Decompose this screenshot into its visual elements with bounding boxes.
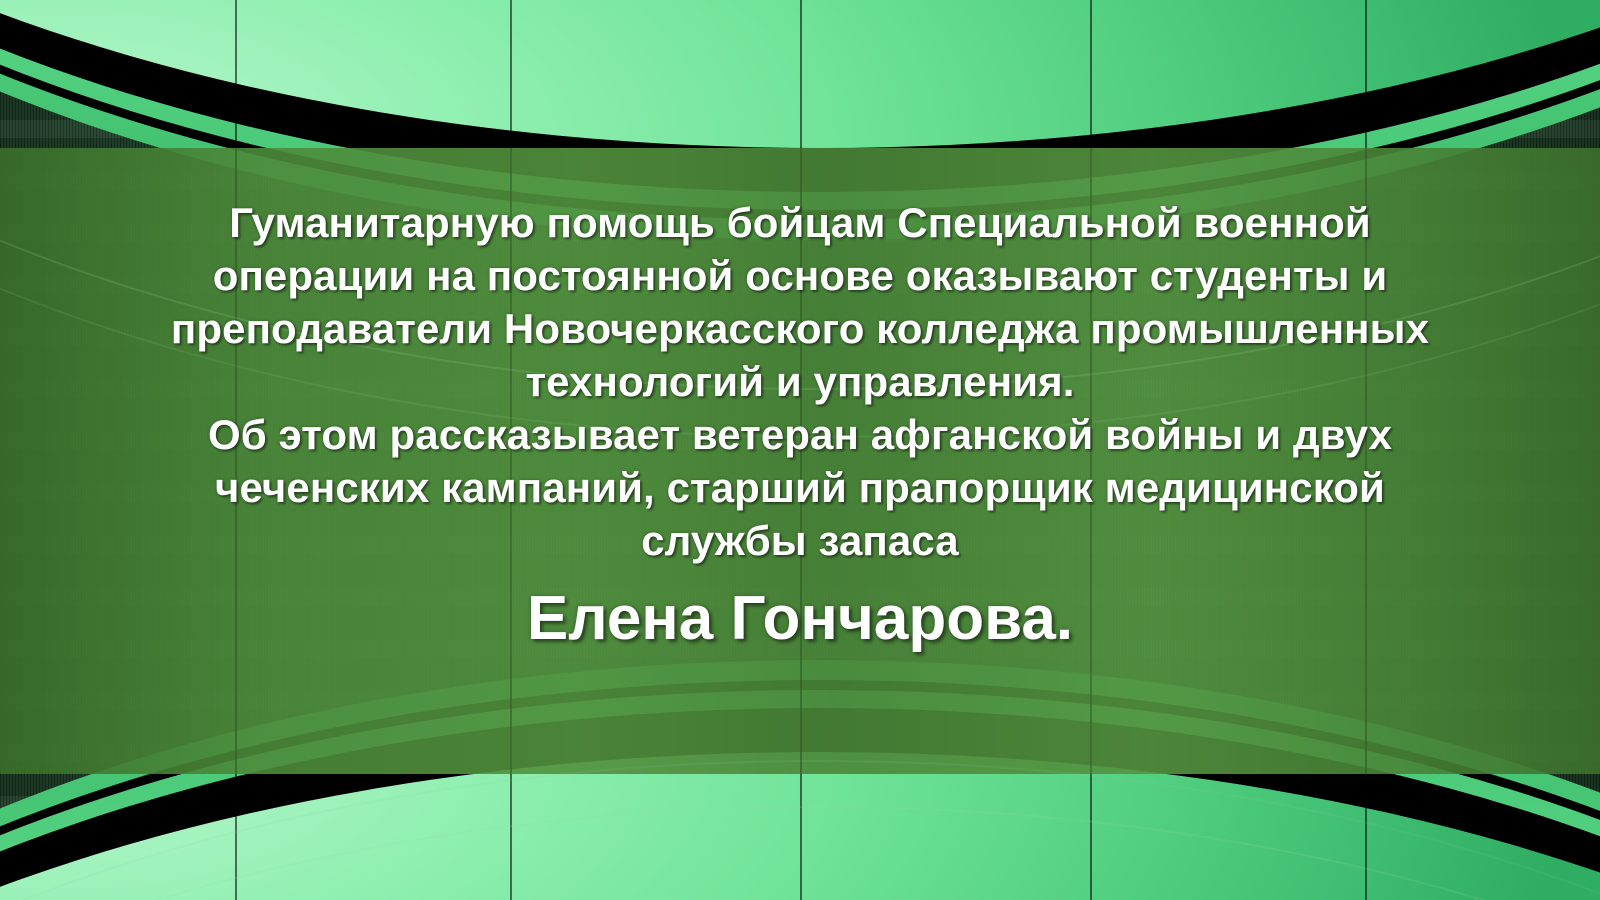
attribution-line-3: службы запаса: [641, 514, 959, 567]
headline-line-4: технологий и управления.: [525, 355, 1074, 408]
speaker-name: Елена Гончарова.: [527, 577, 1073, 661]
headline-line-3: преподаватели Новочеркасского колледжа п…: [171, 302, 1429, 355]
headline-line-1: Гуманитарную помощь бойцам Специальной в…: [229, 196, 1371, 249]
attribution-line-1: Об этом рассказывает ветеран афганской в…: [208, 408, 1392, 461]
broadcast-caption-screen: Гуманитарную помощь бойцам Специальной в…: [0, 0, 1600, 900]
caption-text-block: Гуманитарную помощь бойцам Специальной в…: [0, 148, 1600, 774]
attribution-line-2: чеченских кампаний, старший прапорщик ме…: [215, 461, 1385, 514]
headline-line-2: операции на постоянной основе оказывают …: [213, 249, 1388, 302]
